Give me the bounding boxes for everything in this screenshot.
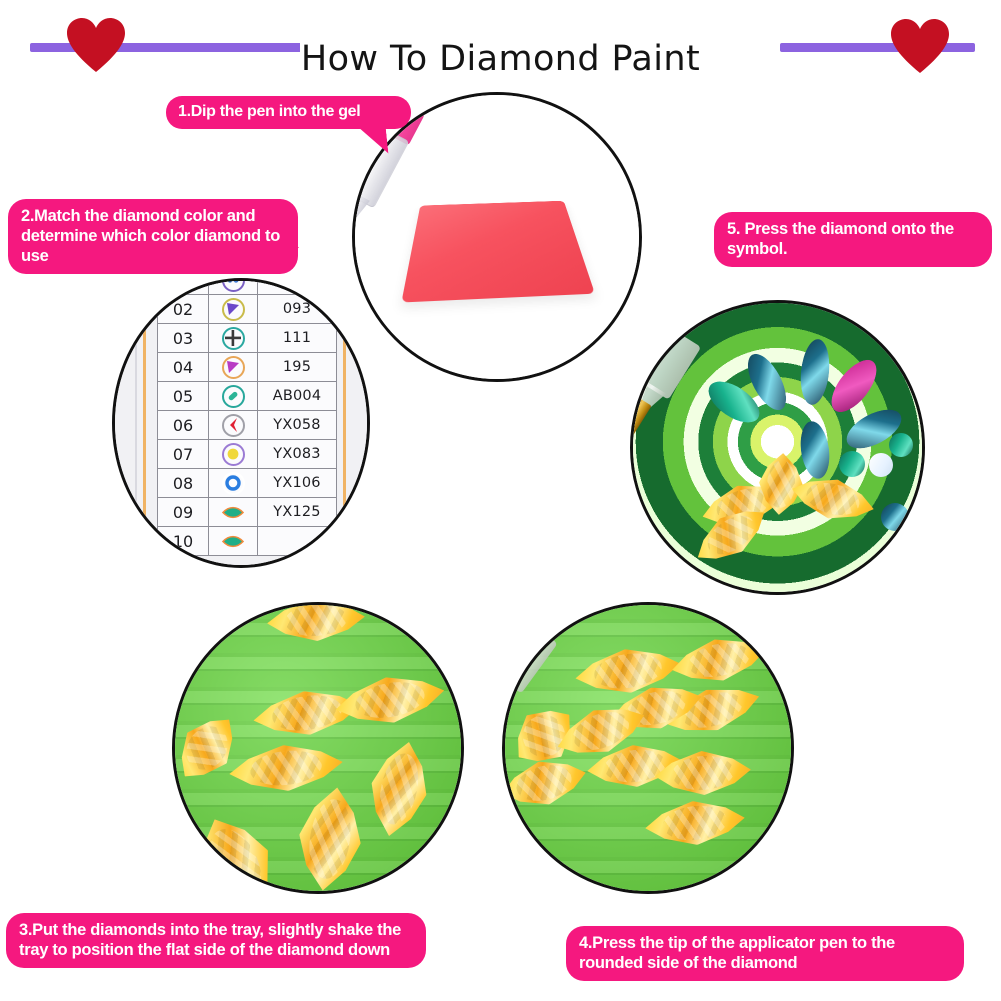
chart-row-number: 09 (158, 498, 209, 527)
chart-row-number: 07 (158, 440, 209, 469)
photo-dmc-color-chart: 0102002093031110419505AB00406YX05807YX08… (112, 278, 370, 568)
chart-color-code: 111 (258, 324, 337, 353)
chart-color-code: 195 (258, 353, 337, 382)
step-4-label: 4.Press the tip of the applicator pen to… (566, 926, 964, 981)
photo-press-onto-symbol (630, 300, 925, 595)
table-row: 03111 (158, 324, 337, 353)
chart-symbol-left-arrow-icon (209, 411, 258, 440)
chart-symbol-slash-oval-icon (209, 382, 258, 411)
table-row: 05AB004 (158, 382, 337, 411)
chart-symbol-triangle-corner-icon (209, 295, 258, 324)
chart-color-code: AB004 (258, 382, 337, 411)
chart-color-code: YX106 (258, 469, 337, 498)
table-row: 09YX125 (158, 498, 337, 527)
step-1-label: 1.Dip the pen into the gel (166, 96, 411, 129)
chart-row-number: 02 (158, 295, 209, 324)
chart-row-number: 04 (158, 353, 209, 382)
chart-symbol-plus-icon (209, 324, 258, 353)
table-row: 04195 (158, 353, 337, 382)
chart-color-code: YX083 (258, 440, 337, 469)
color-chart-table: 0102002093031110419505AB00406YX05807YX08… (157, 278, 337, 556)
chart-symbol-leaf-icon (209, 527, 258, 556)
chart-color-code (258, 527, 337, 556)
photo-diamonds-in-tray (172, 602, 464, 894)
step-2-label: 2.Match the diamond color and determine … (8, 199, 298, 274)
page-header: How To Diamond Paint (0, 0, 1001, 90)
chart-color-code: YX058 (258, 411, 337, 440)
chart-row-number: 06 (158, 411, 209, 440)
gel-pad (401, 201, 595, 303)
table-row: 10 (158, 527, 337, 556)
chart-color-code: YX125 (258, 498, 337, 527)
table-row: 07YX083 (158, 440, 337, 469)
table-row: 06YX058 (158, 411, 337, 440)
chart-symbol-filled-dot-icon (209, 440, 258, 469)
page-title: How To Diamond Paint (0, 39, 1001, 79)
chart-symbol-two-dots-circle-icon (209, 278, 258, 295)
chart-color-code: 093 (258, 295, 337, 324)
chart-row-number: 05 (158, 382, 209, 411)
photo-pen-picking-diamond (502, 602, 794, 894)
chart-symbol-thick-ring-icon (209, 469, 258, 498)
chart-row-number: 03 (158, 324, 209, 353)
photo-pen-into-gel (352, 92, 642, 382)
step-3-label: 3.Put the diamonds into the tray, slight… (6, 913, 426, 968)
chart-row-number: 10 (158, 527, 209, 556)
chart-row-number: 08 (158, 469, 209, 498)
table-row: 08YX106 (158, 469, 337, 498)
table-row: 01020 (158, 278, 337, 295)
table-row: 02093 (158, 295, 337, 324)
chart-symbol-triangle-corner-icon (209, 353, 258, 382)
chart-symbol-leaf-icon (209, 498, 258, 527)
step-5-label: 5. Press the diamond onto the symbol. (714, 212, 992, 267)
chart-color-code: 020 (258, 278, 337, 295)
chart-row-number: 01 (158, 278, 209, 295)
